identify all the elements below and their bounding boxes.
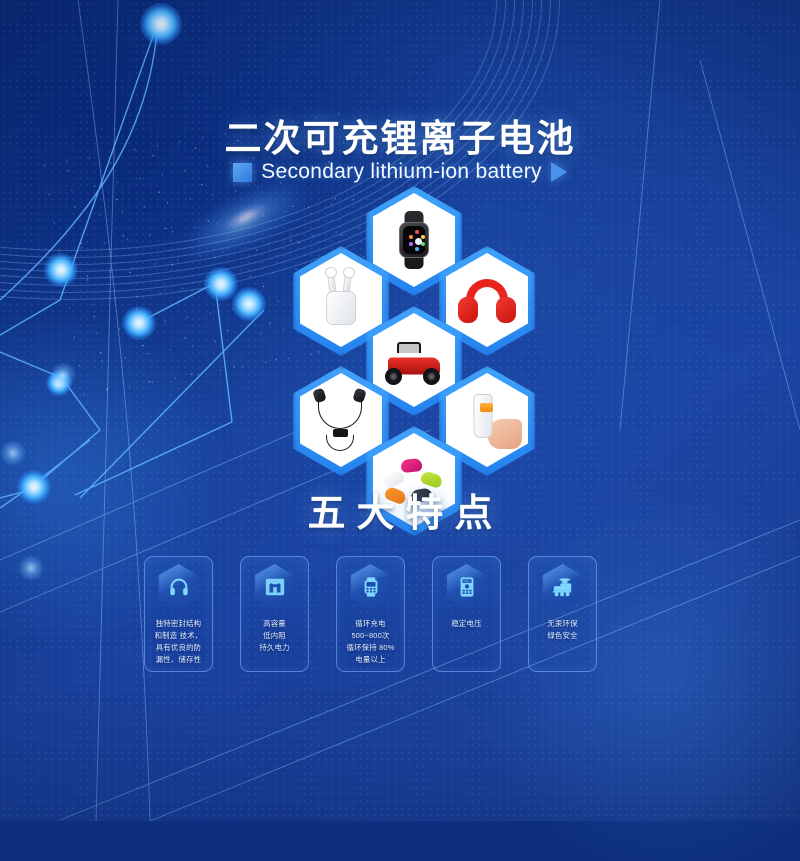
feature-card-text: 独特密封结构 和制造 技术， 具有优良的防 漏性、储存性 bbox=[155, 618, 203, 666]
feature-icon-hex bbox=[543, 564, 583, 609]
speaker-icon bbox=[264, 576, 286, 598]
product-hexagon-cluster bbox=[0, 0, 800, 821]
feature-card-text: 稳定电压 bbox=[451, 618, 481, 630]
smartwatch-body bbox=[399, 222, 429, 258]
smartwatch-icon bbox=[360, 576, 382, 598]
airpods-icon bbox=[326, 291, 356, 325]
feature-card-sealed-structure[interactable]: 独特密封结构 和制造 技术， 具有优良的防 漏性、储存性 bbox=[144, 556, 213, 672]
feature-card-stable-voltage[interactable]: REC 稳定电压 bbox=[432, 556, 501, 672]
thermometer-icon bbox=[474, 394, 493, 438]
hand-illustration bbox=[488, 419, 522, 449]
feature-card-cycle-charge[interactable]: 循环充电 500~800次 循环保持 80% 电量以上 bbox=[336, 556, 405, 672]
feature-card-text: 循环充电 500~800次 循环保持 80% 电量以上 bbox=[346, 618, 394, 666]
feature-card-list: 独特密封结构 和制造 技术， 具有优良的防 漏性、储存性 高容量 低内阻 持久电… bbox=[144, 556, 597, 672]
section-heading: 五大特点 bbox=[0, 482, 800, 537]
feature-icon-hex bbox=[351, 564, 391, 609]
feature-card-text: 无汞环保 绿色安全 bbox=[547, 618, 577, 642]
feature-card-mercury-free[interactable]: 无汞环保 绿色安全 bbox=[528, 556, 597, 672]
voice-recorder-icon: REC bbox=[456, 576, 478, 598]
svg-text:REC: REC bbox=[463, 579, 471, 583]
train-icon bbox=[551, 576, 575, 598]
headphones-icon bbox=[168, 576, 190, 598]
feature-card-high-capacity[interactable]: 高容量 低内阻 持久电力 bbox=[240, 556, 309, 672]
thermometer-screen bbox=[480, 403, 493, 412]
feature-icon-hex: REC bbox=[447, 564, 487, 609]
smartwatch-face bbox=[403, 226, 425, 254]
feature-icon-hex bbox=[159, 564, 199, 609]
feature-icon-hex bbox=[255, 564, 295, 609]
feature-card-text: 高容量 低内阻 持久电力 bbox=[259, 618, 289, 654]
